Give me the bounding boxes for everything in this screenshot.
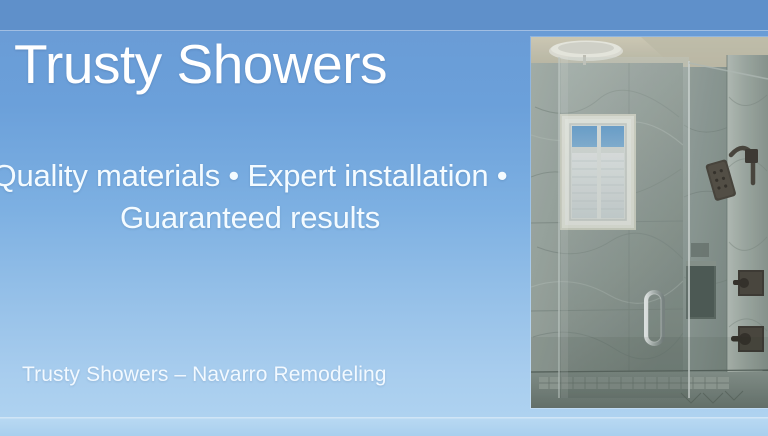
shower-photo [531,37,768,408]
text-content-column: Trusty Showers Quality materials • Exper… [0,30,520,417]
shower-photo-image [531,37,768,408]
slide-title: Trusty Showers [14,36,387,94]
bottom-divider-rule [0,417,768,418]
presentation-slide: Trusty Showers Quality materials • Exper… [0,0,768,436]
slide-tagline: Quality materials • Expert installation … [0,155,510,238]
slide-footer: Trusty Showers – Navarro Remodeling [22,363,387,387]
